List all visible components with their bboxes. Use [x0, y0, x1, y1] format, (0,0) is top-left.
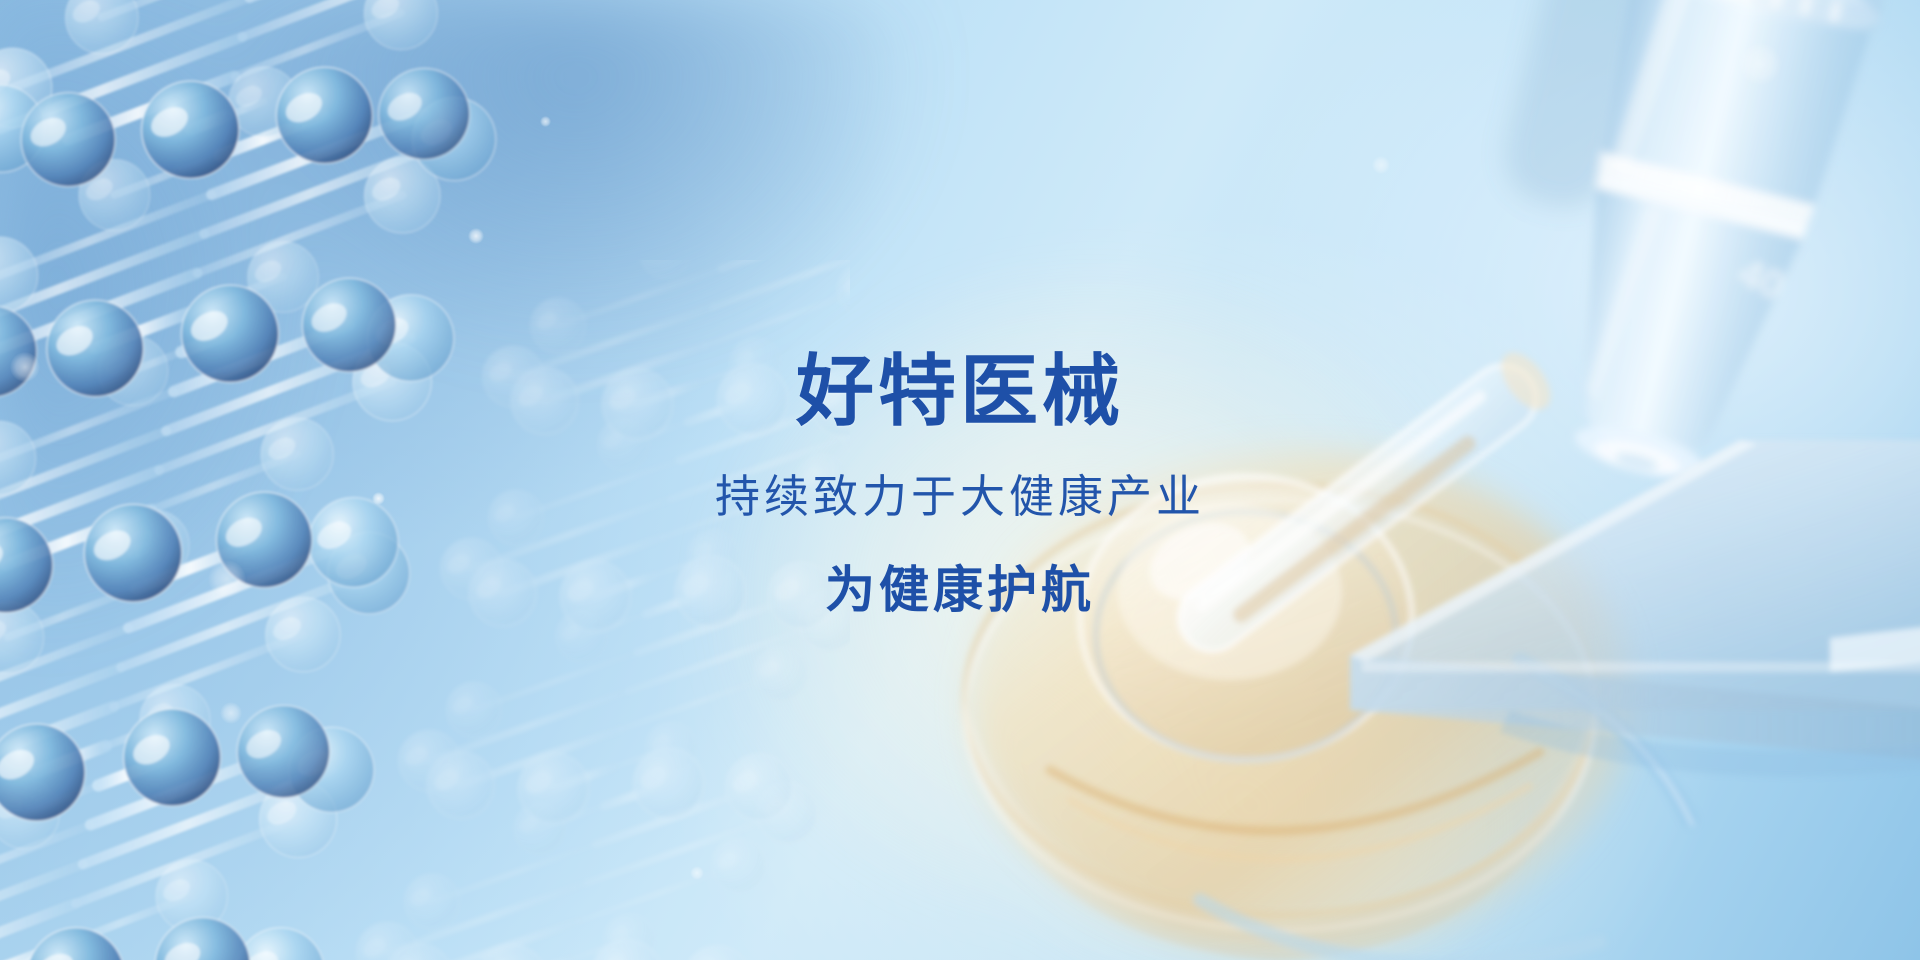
- dna-helix-background: [90, 260, 850, 960]
- brand-tagline: 为健康护航: [0, 565, 1920, 615]
- brand-title: 好特医械: [0, 352, 1920, 430]
- bokeh-dot: [1738, 42, 1782, 86]
- svg-text:40: 40: [1732, 250, 1791, 308]
- background-wash-warm: [0, 0, 1920, 960]
- hero-text-block: 好特医械 持续致力于大健康产业 为健康护航: [0, 352, 1920, 615]
- bokeh-dot: [1372, 156, 1390, 174]
- bokeh-dot: [220, 702, 242, 724]
- bokeh-dot: [540, 116, 551, 127]
- microscope-objective-icon: 40: [1340, 0, 1920, 590]
- bokeh-dot: [468, 228, 484, 244]
- hero-banner: 40: [0, 0, 1920, 960]
- bokeh-dot: [10, 352, 40, 382]
- laboratory-glassware-graphic: [900, 300, 1720, 960]
- bokeh-dot: [372, 492, 385, 505]
- bokeh-dot: [690, 866, 704, 880]
- dna-helix-foreground: [0, 0, 680, 960]
- brand-subtitle: 持续致力于大健康产业: [0, 474, 1920, 519]
- microscope-stage-graphic: [1310, 410, 1920, 840]
- bokeh-dot: [208, 560, 246, 598]
- background-wash-cool: [0, 0, 1920, 960]
